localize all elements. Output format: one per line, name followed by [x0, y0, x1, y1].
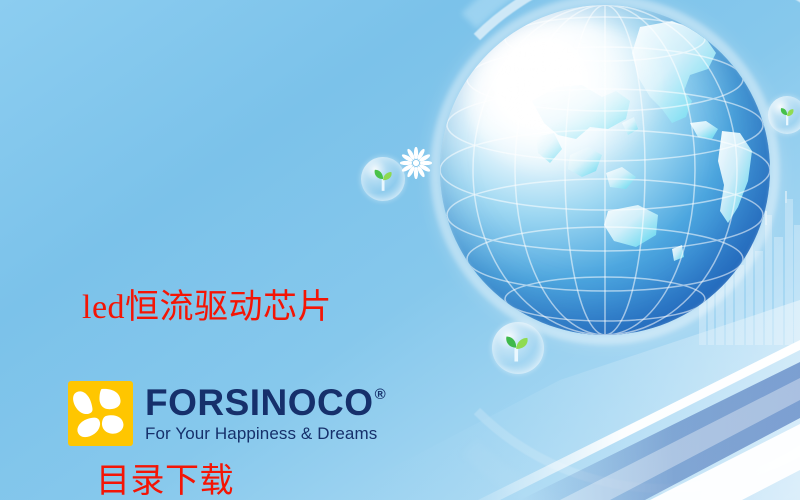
registered-trademark-symbol: ®	[375, 387, 387, 402]
forsinoco-logo[interactable]: FORSINOCO ® For Your Happiness & Dreams	[68, 381, 386, 446]
green-sprout-icon	[369, 165, 397, 193]
bubble-with-sprout-large	[492, 322, 544, 374]
forsinoco-pinwheel-flower-icon	[68, 381, 133, 446]
logo-wordmark-row: FORSINOCO ®	[145, 384, 386, 422]
logo-tagline: For Your Happiness & Dreams	[145, 424, 386, 443]
globe-outer-rim	[430, 0, 780, 345]
logo-wordmark: FORSINOCO	[145, 384, 374, 422]
headline-line-1: led恒流驱动芯片	[82, 279, 332, 337]
earth-globe	[440, 5, 770, 335]
flower-sparkle-icon	[400, 147, 432, 179]
logo-text-block: FORSINOCO ® For Your Happiness & Dreams	[145, 381, 386, 443]
promo-banner: led恒流驱动芯片 目录下载 FORSINOCO ® For Your Happ…	[0, 0, 800, 500]
headline-line-2: 目录下载	[96, 453, 332, 500]
bubble-with-sprout-top-right	[768, 96, 800, 134]
headline-text: led恒流驱动芯片 目录下载	[82, 163, 332, 500]
green-sprout-icon	[501, 331, 534, 364]
green-sprout-icon	[775, 103, 799, 127]
bubble-with-sprout-small	[361, 157, 405, 201]
